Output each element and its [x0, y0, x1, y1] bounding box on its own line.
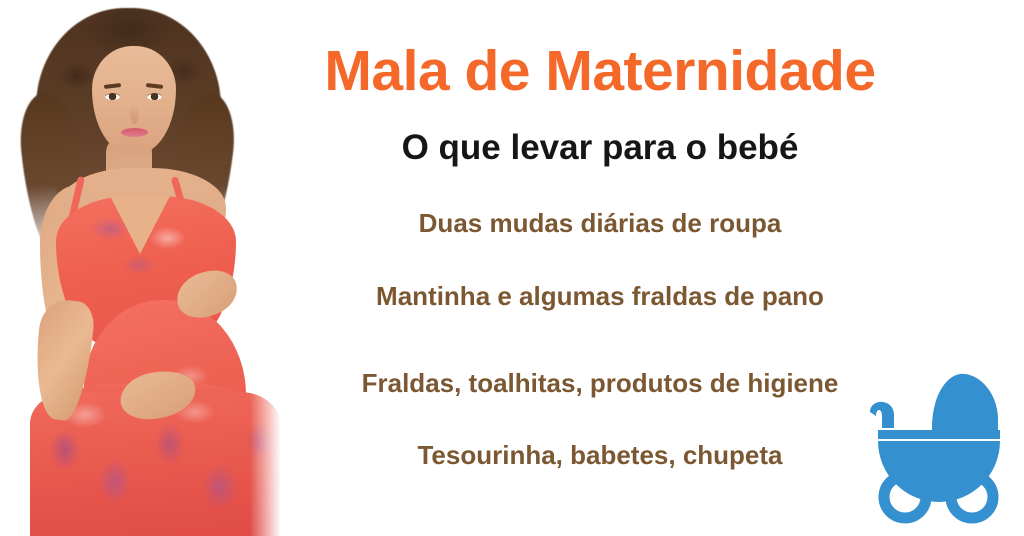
list-item: Duas mudas diárias de roupa: [290, 208, 910, 239]
pregnant-woman-photo: [0, 0, 290, 536]
list-item: Mantinha e algumas fraldas de pano: [290, 281, 910, 312]
page-subtitle: O que levar para o bebé: [290, 129, 910, 168]
eyebrow-right: [146, 83, 163, 89]
eyebrow-left: [104, 83, 121, 89]
lips: [121, 128, 148, 137]
page-title: Mala de Maternidade: [290, 42, 910, 102]
eye-left: [105, 93, 120, 100]
baby-stroller-icon: [860, 370, 1010, 526]
photo-edge-fade: [250, 0, 290, 536]
list-item: Fraldas, toalhitas, produtos de higiene: [290, 368, 910, 399]
maternity-bag-infographic: Mala de Maternidade O que levar para o b…: [0, 0, 1024, 536]
nose: [130, 104, 139, 124]
checklist: Duas mudas diárias de roupa Mantinha e a…: [290, 196, 910, 471]
eye-right: [147, 93, 162, 100]
dress-neckline: [110, 196, 170, 254]
list-item: Tesourinha, babetes, chupeta: [290, 440, 910, 471]
woman-figure: [0, 0, 290, 536]
